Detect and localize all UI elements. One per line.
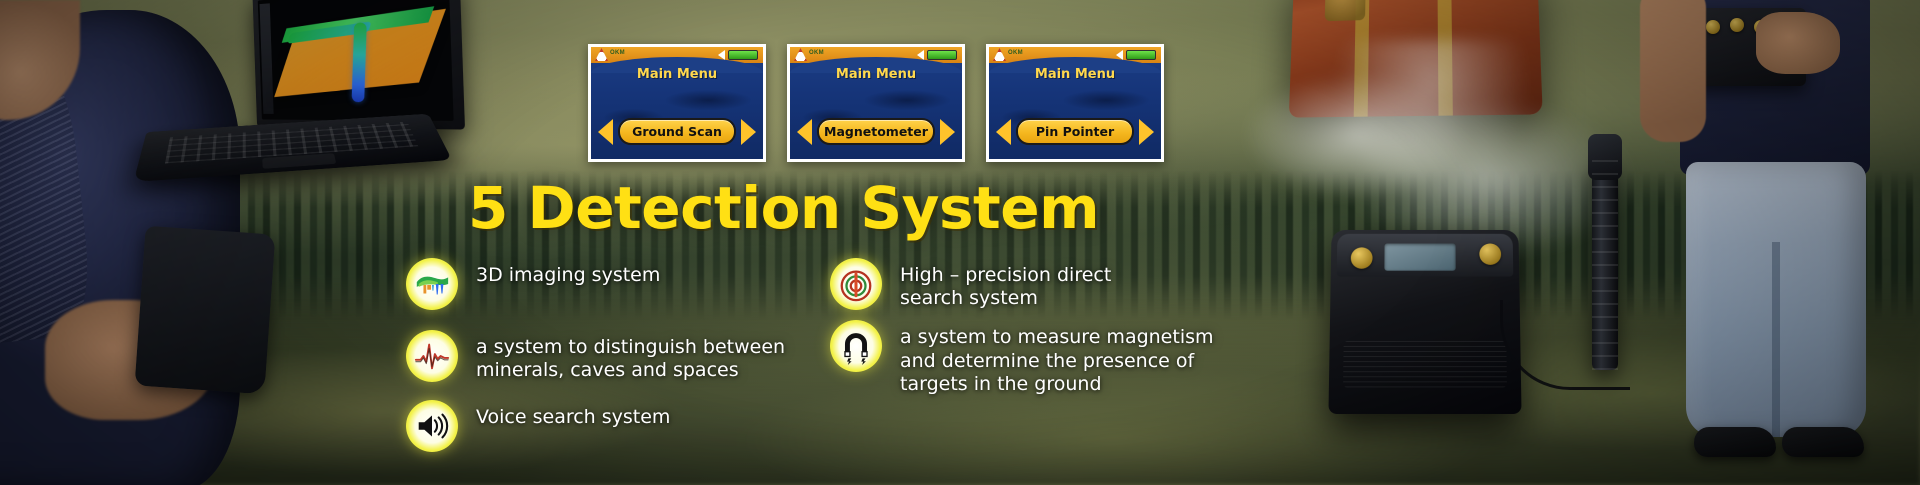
magnet-glyph (837, 327, 875, 365)
brand-logo-icon (595, 48, 608, 61)
panel-mode-selector: Magnetometer (790, 118, 962, 145)
panel-status-bar: OKM (989, 47, 1161, 63)
signal-target-glyph (837, 265, 875, 303)
battery-full-icon (927, 50, 957, 60)
panel-mode-selector: Ground Scan (591, 118, 763, 145)
waveform-glyph (413, 337, 451, 375)
feature-label: High – precision direct search system (900, 258, 1111, 310)
battery-full-icon (1126, 50, 1156, 60)
promo-banner: OKM Main Menu Ground Scan OKM Main Menu (0, 0, 1920, 485)
panel-mode-button[interactable]: Magnetometer (817, 118, 935, 145)
speaker-wave-icon (406, 400, 458, 452)
speaker-icon (917, 50, 924, 60)
feature-item-voice-search: Voice search system (406, 400, 806, 452)
speaker-wave-glyph (413, 407, 451, 445)
chevron-right-icon[interactable] (940, 119, 955, 145)
feature-item-magnetism: a system to measure magnetism and determ… (830, 320, 1250, 396)
brand-logo-icon (993, 48, 1006, 61)
feature-item-mineral-distinguish: a system to distinguish between minerals… (406, 330, 806, 382)
chevron-right-icon[interactable] (741, 119, 756, 145)
speaker-icon (1116, 50, 1123, 60)
feature-item-high-precision-search: High – precision direct search system (830, 258, 1250, 310)
panel-title: Main Menu (591, 67, 763, 82)
waveform-icon (406, 330, 458, 382)
3d-terrain-glyph (413, 265, 451, 303)
signal-target-icon (830, 258, 882, 310)
device-menu-panels: OKM Main Menu Ground Scan OKM Main Menu (588, 44, 1164, 162)
battery-full-icon (728, 50, 758, 60)
device-panel-pin-pointer[interactable]: OKM Main Menu Pin Pointer (986, 44, 1164, 162)
magnet-icon (830, 320, 882, 372)
feature-item-3d-imaging: 3D imaging system (406, 258, 806, 310)
3d-terrain-icon (406, 258, 458, 310)
panel-status-bar: OKM (790, 47, 962, 63)
chevron-left-icon[interactable] (996, 119, 1011, 145)
speaker-icon (718, 50, 725, 60)
device-panel-magnetometer[interactable]: OKM Main Menu Magnetometer (787, 44, 965, 162)
brand-logo-label: OKM (809, 50, 824, 56)
device-panel-ground-scan[interactable]: OKM Main Menu Ground Scan (588, 44, 766, 162)
feature-list-right: High – precision direct search system a … (830, 258, 1250, 408)
panel-mode-button[interactable]: Pin Pointer (1016, 118, 1134, 145)
panel-mode-selector: Pin Pointer (989, 118, 1161, 145)
feature-list-left: 3D imaging system a system to distinguis… (406, 258, 806, 464)
panel-title: Main Menu (989, 67, 1161, 82)
feature-label: 3D imaging system (476, 258, 660, 287)
chevron-left-icon[interactable] (797, 119, 812, 145)
brand-logo-icon (794, 48, 807, 61)
chevron-right-icon[interactable] (1139, 119, 1154, 145)
panel-mode-button[interactable]: Ground Scan (618, 118, 736, 145)
feature-label: a system to distinguish between minerals… (476, 330, 785, 382)
feature-label: Voice search system (476, 400, 670, 429)
panel-title: Main Menu (790, 67, 962, 82)
chevron-left-icon[interactable] (598, 119, 613, 145)
panel-status-bar: OKM (591, 47, 763, 63)
page-title: 5 Detection System (468, 174, 1099, 242)
brand-logo-label: OKM (1008, 50, 1023, 56)
brand-logo-label: OKM (610, 50, 625, 56)
feature-label: a system to measure magnetism and determ… (900, 320, 1214, 396)
